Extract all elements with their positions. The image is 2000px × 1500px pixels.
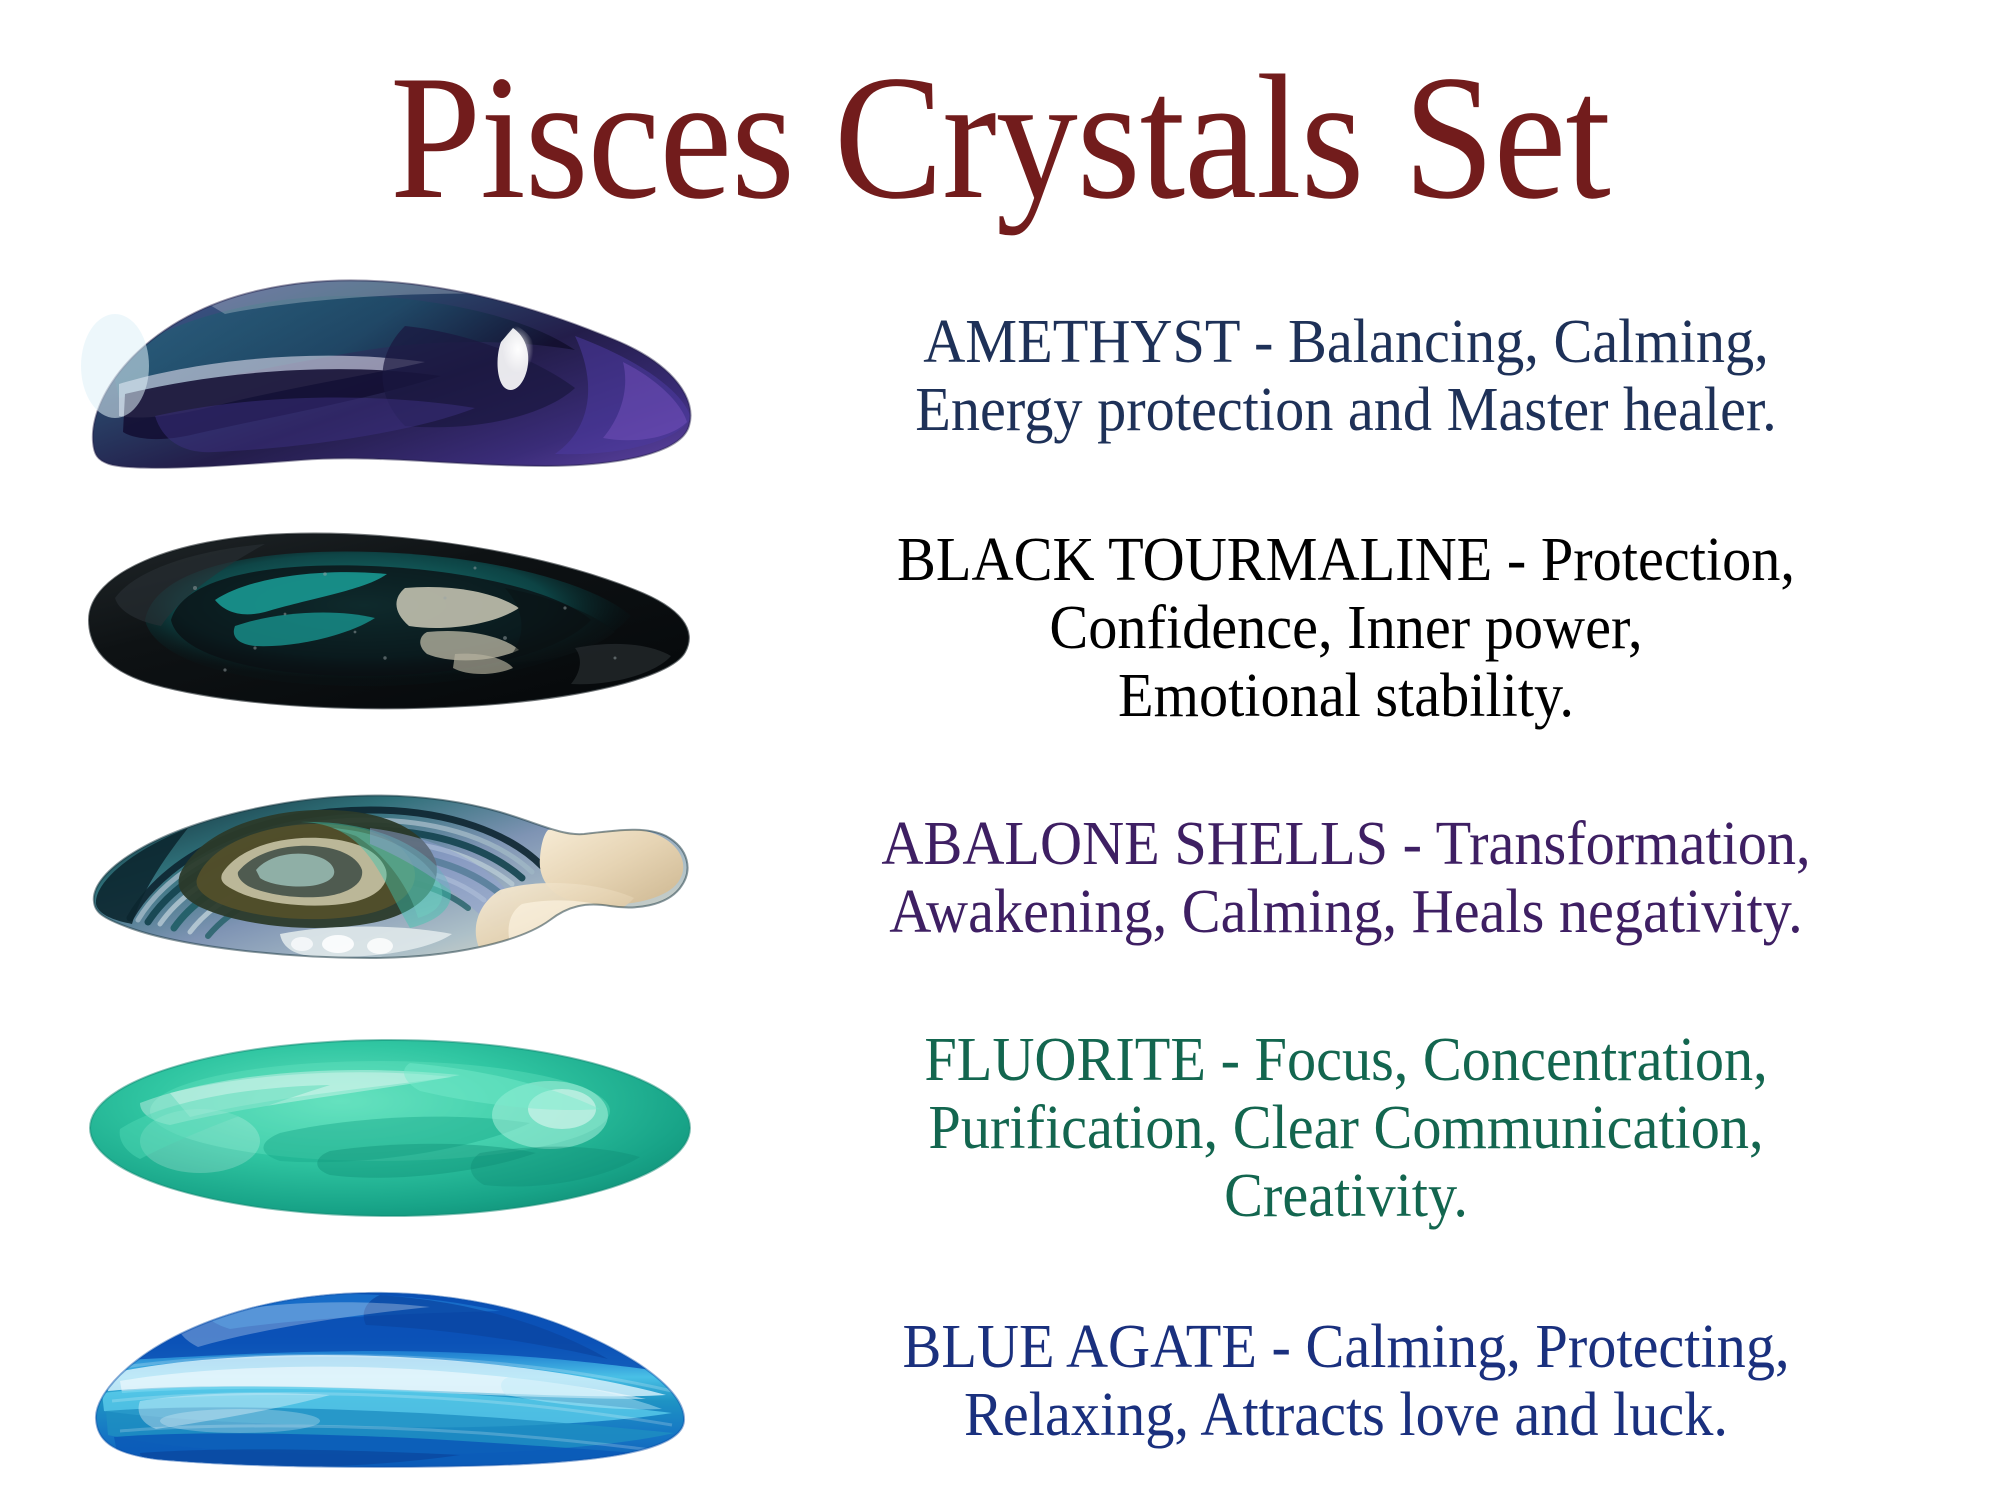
crystal-list: AMETHYST - Balancing, Calming, Energy pr… bbox=[0, 258, 2000, 1500]
poster-canvas: Pisces Crystals Set bbox=[0, 0, 2000, 1500]
description-cell-fluorite: FLUORITE - Focus, Concentration, Purific… bbox=[780, 1026, 2000, 1231]
description-line-1-rest: Focus, Concentration, bbox=[1255, 1026, 1768, 1094]
stone-image-blue-agate bbox=[0, 1281, 780, 1481]
abalone-shell-icon bbox=[70, 778, 710, 978]
list-item-amethyst: AMETHYST - Balancing, Calming, Energy pr… bbox=[0, 258, 2000, 494]
crystal-name-black-tourmaline: BLACK TOURMALINE bbox=[897, 526, 1492, 594]
stone-image-abalone-shell bbox=[0, 778, 780, 978]
separator: - bbox=[1388, 810, 1435, 878]
description-line-1-rest: Protection, bbox=[1541, 526, 1795, 594]
separator: - bbox=[1206, 1026, 1255, 1094]
description-cell-amethyst: AMETHYST - Balancing, Calming, Energy pr… bbox=[780, 308, 2000, 444]
description-blue-agate: BLUE AGATE - Calming, Protecting, Relaxi… bbox=[821, 1313, 1870, 1449]
crystal-name-amethyst: AMETHYST bbox=[923, 308, 1239, 376]
stone-image-fluorite bbox=[0, 1033, 780, 1223]
fluorite-cabochon-icon bbox=[80, 1033, 700, 1223]
description-line-3: Emotional stability. bbox=[821, 662, 1870, 730]
separator: - bbox=[1492, 526, 1541, 594]
description-line-2: Purification, Clear Communication, bbox=[821, 1094, 1870, 1162]
description-line-1-rest: Calming, Protecting, bbox=[1306, 1313, 1790, 1381]
description-cell-black-tourmaline: BLACK TOURMALINE - Protection, Confidenc… bbox=[780, 526, 2000, 731]
description-line-1: BLACK TOURMALINE - Protection, bbox=[821, 526, 1870, 594]
crystal-name-fluorite: FLUORITE bbox=[924, 1026, 1206, 1094]
list-item-blue-agate: BLUE AGATE - Calming, Protecting, Relaxi… bbox=[0, 1262, 2000, 1500]
description-line-1: FLUORITE - Focus, Concentration, bbox=[821, 1026, 1870, 1094]
stone-image-black-tourmaline bbox=[0, 528, 780, 728]
separator: - bbox=[1257, 1313, 1306, 1381]
description-cell-abalone-shells: ABALONE SHELLS - Transformation, Awakeni… bbox=[780, 810, 2000, 946]
description-line-1-rest: Balancing, Calming, bbox=[1288, 308, 1769, 376]
description-cell-blue-agate: BLUE AGATE - Calming, Protecting, Relaxi… bbox=[780, 1313, 2000, 1449]
description-line-1-rest: Transformation, bbox=[1436, 810, 1811, 878]
blue-agate-stone-icon bbox=[80, 1281, 700, 1481]
crystal-name-abalone-shells: ABALONE SHELLS bbox=[881, 810, 1388, 878]
description-abalone-shells: ABALONE SHELLS - Transformation, Awakeni… bbox=[821, 810, 1870, 946]
description-line-2: Awakening, Calming, Heals negativity. bbox=[821, 878, 1870, 946]
description-black-tourmaline: BLACK TOURMALINE - Protection, Confidenc… bbox=[821, 526, 1870, 731]
description-line-1: ABALONE SHELLS - Transformation, bbox=[821, 810, 1870, 878]
black-tourmaline-stone-icon bbox=[75, 528, 705, 728]
description-line-2: Confidence, Inner power, bbox=[821, 594, 1870, 662]
stone-image-amethyst bbox=[0, 266, 780, 486]
description-line-1: BLUE AGATE - Calming, Protecting, bbox=[821, 1313, 1870, 1381]
description-line-1: AMETHYST - Balancing, Calming, bbox=[821, 308, 1870, 376]
separator: - bbox=[1239, 308, 1288, 376]
amethyst-stone-icon bbox=[75, 266, 705, 486]
description-line-3: Creativity. bbox=[821, 1162, 1870, 1230]
description-fluorite: FLUORITE - Focus, Concentration, Purific… bbox=[821, 1026, 1870, 1231]
description-line-2: Relaxing, Attracts love and luck. bbox=[821, 1381, 1870, 1449]
description-amethyst: AMETHYST - Balancing, Calming, Energy pr… bbox=[821, 308, 1870, 444]
description-line-2: Energy protection and Master healer. bbox=[821, 376, 1870, 444]
list-item-fluorite: FLUORITE - Focus, Concentration, Purific… bbox=[0, 994, 2000, 1262]
list-item-black-tourmaline: BLACK TOURMALINE - Protection, Confidenc… bbox=[0, 494, 2000, 762]
list-item-abalone-shells: ABALONE SHELLS - Transformation, Awakeni… bbox=[0, 762, 2000, 994]
page-title: Pisces Crystals Set bbox=[80, 48, 1920, 226]
crystal-name-blue-agate: BLUE AGATE bbox=[902, 1313, 1257, 1381]
